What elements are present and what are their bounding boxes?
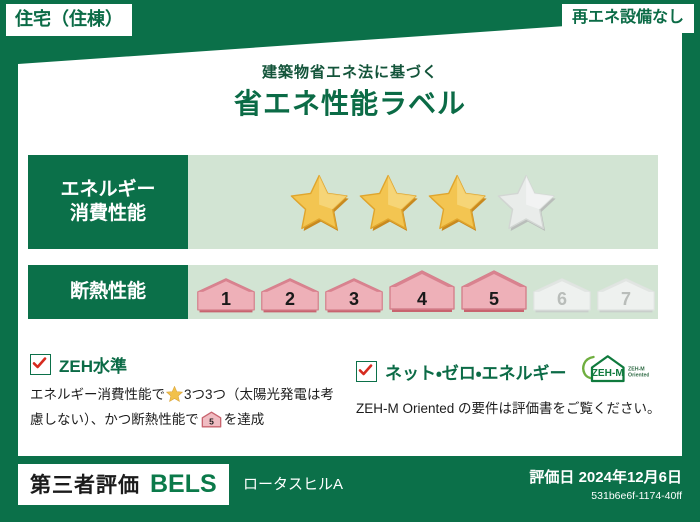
zeh-standard-description: エネルギー消費性能で3つ3つ（太陽光発電は考慮しない）、かつ断熱性能で5を達成 [30,384,342,436]
insulation-performance-row: 断熱性能 1234567 [28,265,658,319]
info-columns: ZEH水準 エネルギー消費性能で3つ3つ（太陽光発電は考慮しない）、かつ断熱性能… [30,352,670,436]
title-subtitle: 建築物省エネ法に基づく [0,64,700,82]
zeh-m-oriented-logo-icon: ZEH-M ZEH-M Oriented [577,352,649,391]
bels-certification-box: 第三者評価 BELS [18,464,229,505]
page-title: 省エネ性能ラベル [0,87,700,121]
net-zero-description: ZEH-M Oriented の要件は評価書をご覧ください。 [356,398,670,420]
house-level-7: 7 [596,278,656,314]
checkbox-checked-icon [356,361,377,382]
building-name: ロータスヒルA [243,473,343,494]
svg-text:5: 5 [209,417,214,427]
energy-performance-label: 住宅（住棟） 再エネ設備なし 建築物省エネ法に基づく 省エネ性能ラベル エネルギ… [0,0,700,522]
house-level-2: 2 [260,278,320,314]
zeh-m-logo-text: ZEH-M [591,368,623,379]
zeh-standard-title: ZEH水準 [59,352,127,377]
zeh-m-logo-sub1: ZEH-M [628,367,645,373]
net-zero-heading: ネット・ゼロ・エネルギー ZEH-M ZEH-M Oriented [356,352,670,391]
building-type-badge: 住宅（住棟） [6,4,132,36]
checkbox-checked-icon [30,354,51,375]
energy-performance-label-key: エネルギー 消費性能 [28,155,188,249]
zeh-m-logo-sub2: Oriented [628,373,649,379]
energy-label-line2: 消費性能 [70,202,146,226]
inline-house-icon: 5 [201,416,222,431]
star-rating [290,173,557,231]
star-filled-icon [428,173,488,231]
energy-label-line1: エネルギー [60,178,155,202]
bels-logo-text: BELS [150,470,217,499]
label-footer: 第三者評価 BELS ロータスヒルA 評価日 2024年12月6日 531b6e… [0,456,700,522]
net-zero-title: ネット・ゼロ・エネルギー [385,359,567,384]
evaluation-date: 評価日 2024年12月6日 [529,466,682,487]
label-title-block: 建築物省エネ法に基づく 省エネ性能ラベル [0,64,700,121]
third-party-evaluation-label: 第三者評価 [30,469,140,499]
evaluation-id: 531b6e6f-1174-40ff [529,490,682,502]
house-level-rating: 1234567 [196,270,656,314]
house-level-1: 1 [196,278,256,314]
insulation-performance-value: 1234567 [188,265,658,319]
house-level-4: 4 [388,270,456,314]
net-zero-energy-block: ネット・ゼロ・エネルギー ZEH-M ZEH-M Oriented ZEH-M … [356,352,670,436]
zeh-standard-block: ZEH水準 エネルギー消費性能で3つ3つ（太陽光発電は考慮しない）、かつ断熱性能… [30,352,342,436]
house-level-5: 5 [460,270,528,314]
renewable-equipment-badge: 再エネ設備なし [562,4,694,33]
star-filled-icon [290,173,350,231]
zeh-desc-part3: を達成 [224,412,265,427]
star-filled-icon [359,173,419,231]
insulation-performance-label-key: 断熱性能 [28,265,188,319]
house-level-3: 3 [324,278,384,314]
energy-performance-value [188,155,658,249]
evaluation-info: 評価日 2024年12月6日 531b6e6f-1174-40ff [529,466,682,502]
zeh-desc-part1: エネルギー消費性能で [30,387,165,402]
energy-performance-row: エネルギー 消費性能 [28,155,658,249]
insulation-label: 断熱性能 [70,280,146,304]
inline-star-icon [166,390,183,405]
zeh-desc-star-count: 3つ [184,387,205,402]
house-level-6: 6 [532,278,592,314]
star-empty-icon [497,173,557,231]
zeh-standard-heading: ZEH水準 [30,352,342,377]
